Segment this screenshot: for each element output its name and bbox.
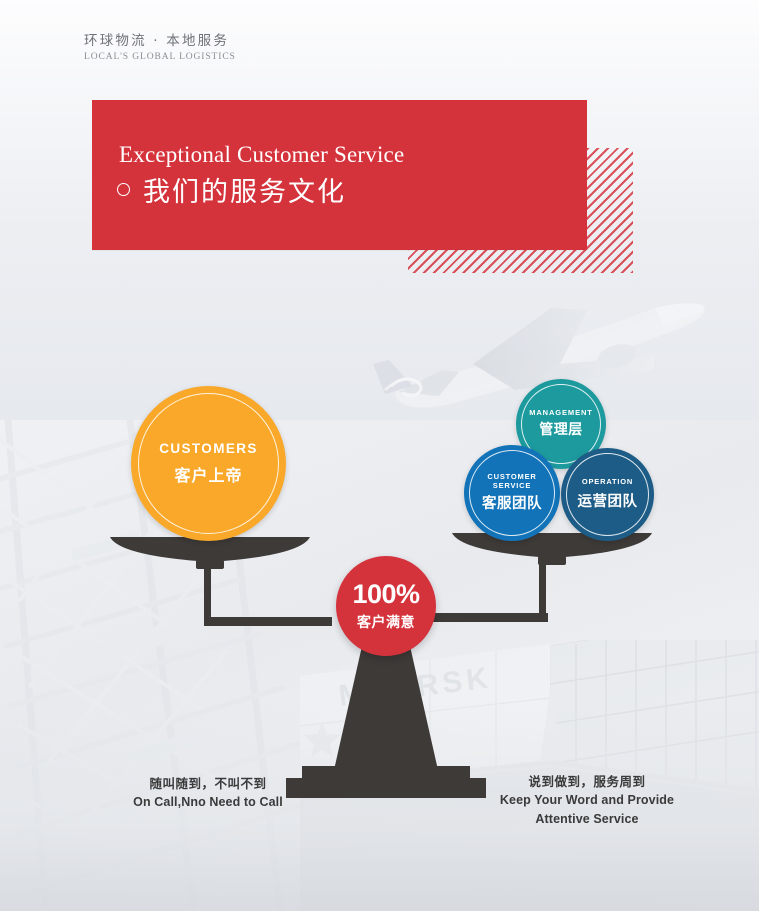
circle-satisfaction[interactable]: 100% 客户满意 xyxy=(336,556,436,656)
circle-operation-label-cn: 运营团队 xyxy=(578,490,638,511)
circle-customers[interactable]: CUSTOMERS 客户上帝 xyxy=(131,386,286,541)
satisfaction-label-cn: 客户满意 xyxy=(357,612,415,632)
caption-right-en-line1: Keep Your Word and Provide xyxy=(487,792,687,809)
circle-management-label-cn: 管理层 xyxy=(539,419,583,439)
circle-management-label-en: MANAGEMENT xyxy=(529,409,593,418)
circle-operation-label-en: OPERATION xyxy=(582,478,633,487)
circle-customer-service-label-cn: 客服团队 xyxy=(482,492,542,513)
caption-left-cn: 随叫随到，不叫不到 xyxy=(118,773,298,792)
satisfaction-percent: 100% xyxy=(352,581,419,608)
caption-right-cn: 说到做到，服务周到 xyxy=(487,771,687,790)
circle-customer-service[interactable]: CUSTOMER SERVICE 客服团队 xyxy=(464,445,560,541)
poster-canvas: MAERSK 环球物流 · 本地服务 LOCAL'S GLOBAL LOGIST… xyxy=(0,0,759,911)
caption-left-en: On Call,Nno Need to Call xyxy=(118,794,298,811)
circle-customers-label-en: CUSTOMERS xyxy=(159,441,258,457)
caption-right-en-line2: Attentive Service xyxy=(487,811,687,828)
circle-operation[interactable]: OPERATION 运营团队 xyxy=(561,448,654,541)
circle-customers-label-cn: 客户上帝 xyxy=(174,462,242,486)
caption-right: 说到做到，服务周到 Keep Your Word and Provide Att… xyxy=(487,771,687,828)
circle-customer-service-label-en-line2: SERVICE xyxy=(493,482,531,491)
caption-left: 随叫随到，不叫不到 On Call,Nno Need to Call xyxy=(118,773,298,811)
